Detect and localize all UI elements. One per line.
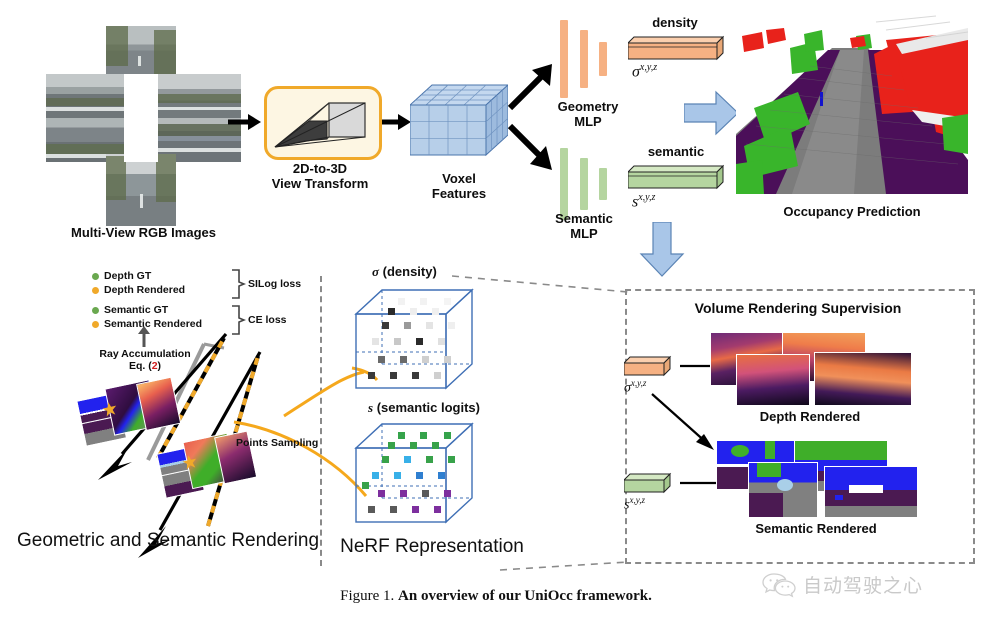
supervision-density-symbol: σ bbox=[624, 381, 631, 396]
supervision-semantic-slab bbox=[624, 472, 672, 496]
depth-render-image-3 bbox=[736, 354, 810, 406]
arrow-transform-to-voxel bbox=[382, 113, 412, 131]
ce-loss-label: CE loss bbox=[248, 314, 287, 326]
geometry-mlp-bars bbox=[560, 20, 616, 100]
semantic-render-image-4 bbox=[824, 466, 918, 518]
density-symbol-group: σx,y,z bbox=[632, 62, 657, 81]
dashed-zoom-connector bbox=[452, 262, 642, 582]
legend-item-depth-gt: Depth GT bbox=[92, 269, 242, 283]
semantic-rendered-dot bbox=[92, 321, 99, 328]
supervision-semantic-superscript: x,y,z bbox=[629, 495, 645, 505]
semantic-gt-dot bbox=[92, 307, 99, 314]
legend-item-semantic-rendered: Semantic Rendered bbox=[92, 317, 242, 331]
loss-legend: Depth GT Depth Rendered Semantic GT Sema… bbox=[92, 269, 242, 331]
semantic-mlp-label: Semantic MLP bbox=[528, 212, 640, 242]
supervision-density-superscript: x,y,z bbox=[631, 378, 647, 388]
semantic-slab-icon bbox=[628, 164, 724, 190]
semantic-render-image-3 bbox=[748, 462, 818, 518]
occupancy-prediction-image bbox=[736, 14, 968, 194]
density-cube-caption: σ (density) bbox=[372, 264, 437, 280]
frustum-icon bbox=[269, 91, 375, 153]
depth-render-image-4 bbox=[814, 352, 912, 406]
depth-gt-label: Depth GT bbox=[104, 270, 151, 282]
depth-rendered-label: Depth Rendered bbox=[104, 284, 185, 296]
voxel-features-label: Voxel Features bbox=[410, 172, 508, 202]
semantic-cube-symbol: s bbox=[368, 400, 373, 415]
watermark-text: 自动驾驶之心 bbox=[803, 571, 923, 598]
density-symbol: σ bbox=[632, 63, 640, 80]
semantic-label: semantic bbox=[618, 145, 734, 160]
density-cube-symbol: σ bbox=[372, 264, 379, 279]
caption-title: An overview of our UniOcc framework. bbox=[398, 588, 652, 604]
camera-view-center-blank bbox=[124, 74, 158, 162]
blue-arrow-to-nerf bbox=[639, 222, 685, 278]
geometric-semantic-rendering-title: Geometric and Semantic Rendering bbox=[8, 530, 328, 552]
blue-arrow-to-occupancy bbox=[684, 90, 740, 136]
depth-rendered-stack bbox=[710, 332, 910, 404]
density-label: density bbox=[620, 16, 730, 31]
supervision-density-slab bbox=[624, 355, 672, 379]
wechat-icon bbox=[762, 572, 796, 598]
geometry-mlp-label-line1: Geometry bbox=[536, 100, 640, 115]
voxel-grid-icon bbox=[410, 83, 508, 163]
occupancy-voxel-scene bbox=[736, 14, 968, 194]
view-transform-label: 2D-to-3D View Transform bbox=[252, 162, 388, 192]
voxel-features-cube bbox=[410, 83, 508, 163]
sample-point-star-2 bbox=[181, 454, 198, 471]
points-sampling-label: Points Sampling bbox=[236, 437, 318, 449]
semantic-gt-label: Semantic GT bbox=[104, 304, 168, 316]
legend-item-depth-rendered: Depth Rendered bbox=[92, 283, 242, 297]
view-transform-label-line1: 2D-to-3D bbox=[252, 162, 388, 177]
supervision-title: Volume Rendering Supervision bbox=[640, 300, 956, 316]
legend-item-semantic-gt: Semantic GT bbox=[92, 303, 242, 317]
semantic-symbol-group: sx,y,z bbox=[632, 192, 655, 211]
supervision-semantic-symbol-group: sx,y,z bbox=[624, 495, 645, 514]
depth-rendered-label: Depth Rendered bbox=[700, 410, 920, 425]
view-transform-label-line2: View Transform bbox=[252, 177, 388, 192]
density-slab-icon bbox=[628, 35, 724, 61]
brace-silog bbox=[230, 269, 246, 299]
camera-view-front-right bbox=[158, 74, 241, 118]
density-superscript: x,y,z bbox=[640, 62, 657, 73]
density-cube-label: (density) bbox=[383, 264, 437, 279]
multi-view-images-label: Multi-View RGB Images bbox=[26, 226, 261, 241]
camera-view-front-left bbox=[46, 74, 124, 118]
supervision-density-symbol-group: σx,y,z bbox=[624, 378, 646, 397]
depth-rendered-dot bbox=[92, 287, 99, 294]
voxel-label-line2: Features bbox=[410, 187, 508, 202]
arrow-images-to-transform bbox=[228, 113, 262, 131]
occupancy-prediction-label: Occupancy Prediction bbox=[736, 205, 968, 220]
semantic-mlp-label-line2: MLP bbox=[528, 227, 640, 242]
semantic-superscript: x,y,z bbox=[638, 192, 655, 203]
caption-prefix: Figure 1. bbox=[340, 588, 394, 604]
semantic-rendered-label: Semantic Rendered bbox=[104, 318, 202, 330]
view-transform-box bbox=[264, 86, 382, 160]
camera-view-back bbox=[106, 154, 176, 226]
semantic-mlp-label-line1: Semantic bbox=[528, 212, 640, 227]
voxel-label-line1: Voxel bbox=[410, 172, 508, 187]
geometry-mlp-label: Geometry MLP bbox=[536, 100, 640, 130]
multi-view-image-cluster bbox=[46, 26, 241, 226]
depth-gt-dot bbox=[92, 273, 99, 280]
semantic-rendered-label: Semantic Rendered bbox=[706, 522, 926, 537]
silog-loss-label: SILog loss bbox=[248, 278, 301, 290]
sample-point-star-1 bbox=[101, 401, 118, 418]
geometry-mlp-label-line2: MLP bbox=[536, 115, 640, 130]
semantic-rendered-stack bbox=[716, 440, 916, 516]
watermark: 自动驾驶之心 bbox=[762, 571, 923, 598]
